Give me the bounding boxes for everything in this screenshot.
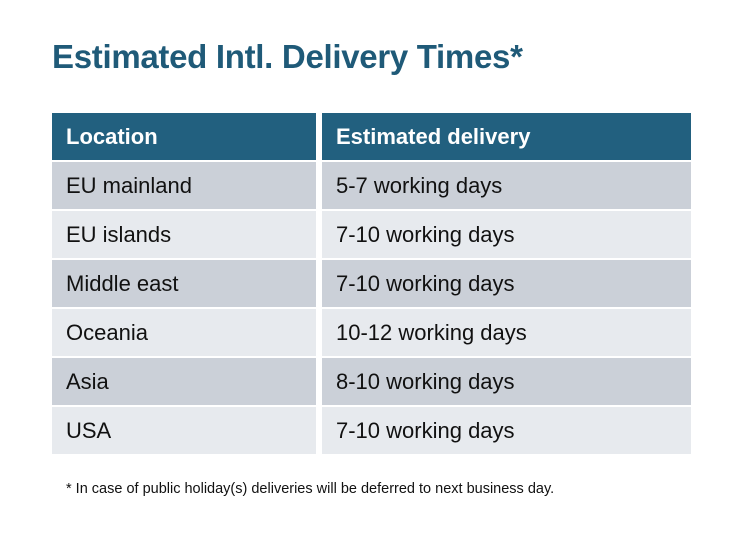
cell-location: EU mainland <box>52 162 316 209</box>
column-header-location: Location <box>52 113 316 160</box>
cell-estimated-delivery: 10-12 working days <box>322 309 691 356</box>
table-row: EU mainland 5-7 working days <box>52 162 691 209</box>
cell-location: Oceania <box>52 309 316 356</box>
table-row: USA 7-10 working days <box>52 407 691 454</box>
table-row: EU islands 7-10 working days <box>52 211 691 258</box>
delivery-times-page: Estimated Intl. Delivery Times* Location… <box>0 0 745 536</box>
cell-location: Asia <box>52 358 316 405</box>
table-row: Oceania 10-12 working days <box>52 309 691 356</box>
cell-estimated-delivery: 7-10 working days <box>322 407 691 454</box>
cell-estimated-delivery: 7-10 working days <box>322 211 691 258</box>
cell-location: Middle east <box>52 260 316 307</box>
cell-estimated-delivery: 8-10 working days <box>322 358 691 405</box>
footnote-text: * In case of public holiday(s) deliverie… <box>66 481 554 497</box>
table-row: Middle east 7-10 working days <box>52 260 691 307</box>
estimated-delivery-times-table: Location Estimated delivery EU mainland … <box>52 113 691 454</box>
column-header-estimated-delivery: Estimated delivery <box>322 113 691 160</box>
cell-estimated-delivery: 7-10 working days <box>322 260 691 307</box>
cell-location: EU islands <box>52 211 316 258</box>
table-row: Asia 8-10 working days <box>52 358 691 405</box>
cell-location: USA <box>52 407 316 454</box>
cell-estimated-delivery: 5-7 working days <box>322 162 691 209</box>
page-title: Estimated Intl. Delivery Times* <box>52 38 523 76</box>
table-header-row: Location Estimated delivery <box>52 113 691 160</box>
